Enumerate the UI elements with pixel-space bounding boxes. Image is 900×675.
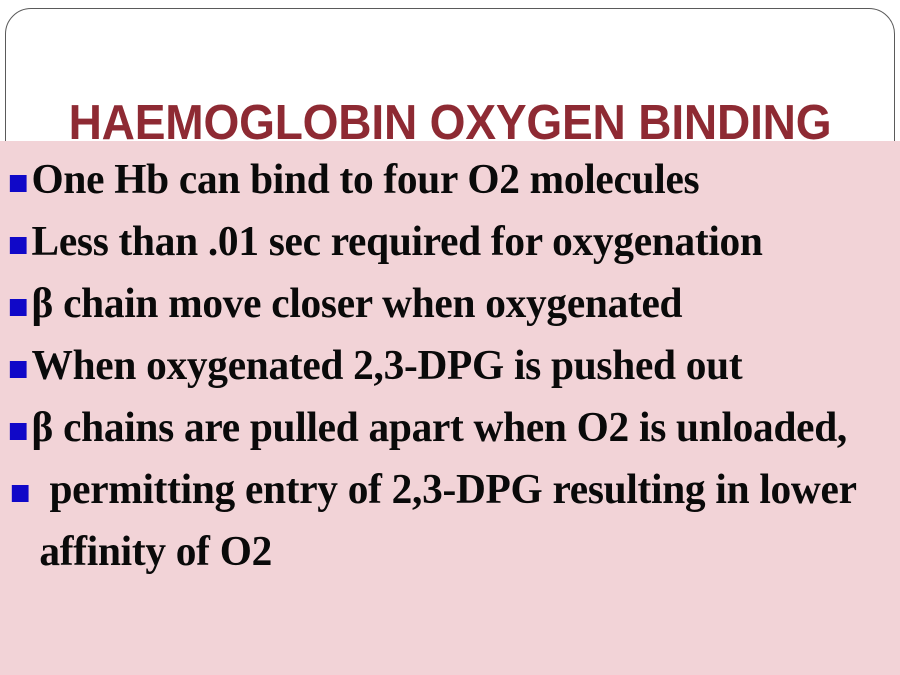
list-item: permitting entry of 2,3-DPG resulting in… (0, 459, 887, 583)
list-item-label: One Hb can bind to four O2 molecules (32, 149, 883, 211)
list-item: One Hb can bind to four O2 molecules (0, 149, 887, 211)
square-bullet-icon (12, 485, 29, 502)
square-bullet-icon (10, 237, 27, 254)
list-item-label: permitting entry of 2,3-DPG resulting in… (39, 459, 882, 583)
list-item-label: β chain move closer when oxygenated (32, 273, 883, 335)
list-item: Less than .01 sec required for oxygenati… (0, 211, 887, 273)
square-bullet-icon (10, 175, 27, 192)
square-bullet-icon (10, 361, 27, 378)
slide-canvas: HAEMOGLOBIN OXYGEN BINDING One Hb can bi… (0, 0, 900, 675)
bullet-list: One Hb can bind to four O2 molecules Les… (0, 149, 900, 583)
list-item: β chains are pulled apart when O2 is unl… (0, 397, 887, 459)
list-item-label: Less than .01 sec required for oxygenati… (32, 211, 883, 273)
square-bullet-icon (10, 423, 27, 440)
list-item-label: β chains are pulled apart when O2 is unl… (32, 397, 883, 459)
page-title: HAEMOGLOBIN OXYGEN BINDING (27, 95, 873, 151)
list-item: β chain move closer when oxygenated (0, 273, 887, 335)
square-bullet-icon (10, 299, 27, 316)
list-item-label: When oxygenated 2,3-DPG is pushed out (32, 335, 883, 397)
list-item: When oxygenated 2,3-DPG is pushed out (0, 335, 887, 397)
